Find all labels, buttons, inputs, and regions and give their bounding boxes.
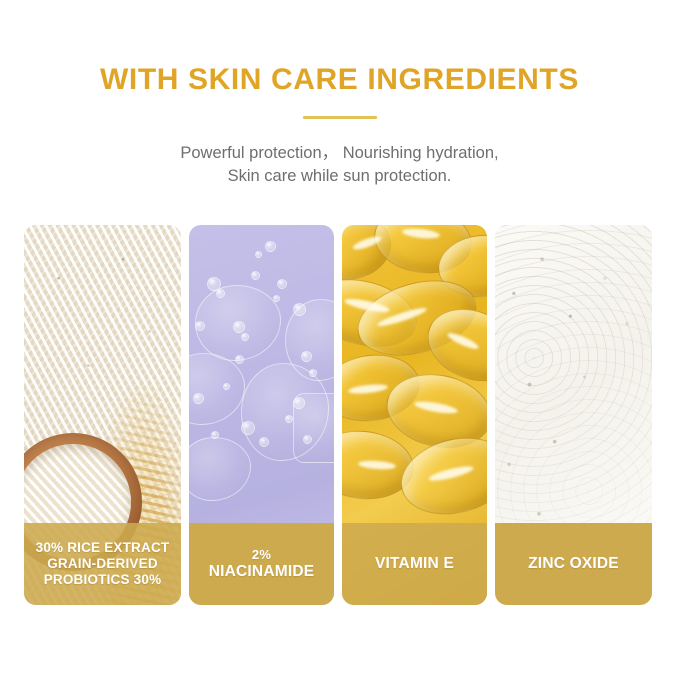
- label-line-2: GRAIN-DERIVED: [28, 556, 177, 572]
- ingredient-label-band: VITAMIN E: [342, 523, 487, 605]
- ingredient-label-text: VITAMIN E: [346, 555, 483, 573]
- ingredient-card-zinc-oxide: ZINC OXIDE: [495, 225, 652, 605]
- ingredient-label-text: ZINC OXIDE: [499, 555, 648, 573]
- label-percent: 2%: [193, 547, 330, 562]
- subtitle-line-1: Powerful protection， Nourishing hydratio…: [0, 142, 679, 165]
- ingredient-label-text: 30% RICE EXTRACT GRAIN-DERIVED PROBIOTIC…: [28, 540, 177, 588]
- ingredient-label-band: ZINC OXIDE: [495, 523, 652, 605]
- ingredient-label-text: 2% NIACINAMIDE: [193, 547, 330, 581]
- infographic-panel: WITH SKIN CARE INGREDIENTS Powerful prot…: [0, 0, 679, 679]
- ingredient-label-band: 2% NIACINAMIDE: [189, 523, 334, 605]
- page-subtitle: Powerful protection， Nourishing hydratio…: [0, 142, 679, 189]
- ingredient-card-rice-extract: 30% RICE EXTRACT GRAIN-DERIVED PROBIOTIC…: [24, 225, 181, 605]
- label-line-1: 30% RICE EXTRACT: [28, 540, 177, 556]
- title-divider: [303, 116, 377, 119]
- label-line-3: PROBIOTICS 30%: [28, 572, 177, 588]
- label-line-1: VITAMIN E: [375, 555, 454, 572]
- ingredient-label-band: 30% RICE EXTRACT GRAIN-DERIVED PROBIOTIC…: [24, 523, 181, 605]
- page-title: WITH SKIN CARE INGREDIENTS: [0, 63, 679, 96]
- ingredient-card-niacinamide: 2% NIACINAMIDE: [189, 225, 334, 605]
- label-line-1: ZINC OXIDE: [528, 555, 619, 572]
- ingredient-card-vitamin-e: VITAMIN E: [342, 225, 487, 605]
- ingredient-card-row: 30% RICE EXTRACT GRAIN-DERIVED PROBIOTIC…: [24, 225, 655, 605]
- label-line-1: NIACINAMIDE: [209, 563, 315, 580]
- subtitle-line-2: Skin care while sun protection.: [0, 165, 679, 188]
